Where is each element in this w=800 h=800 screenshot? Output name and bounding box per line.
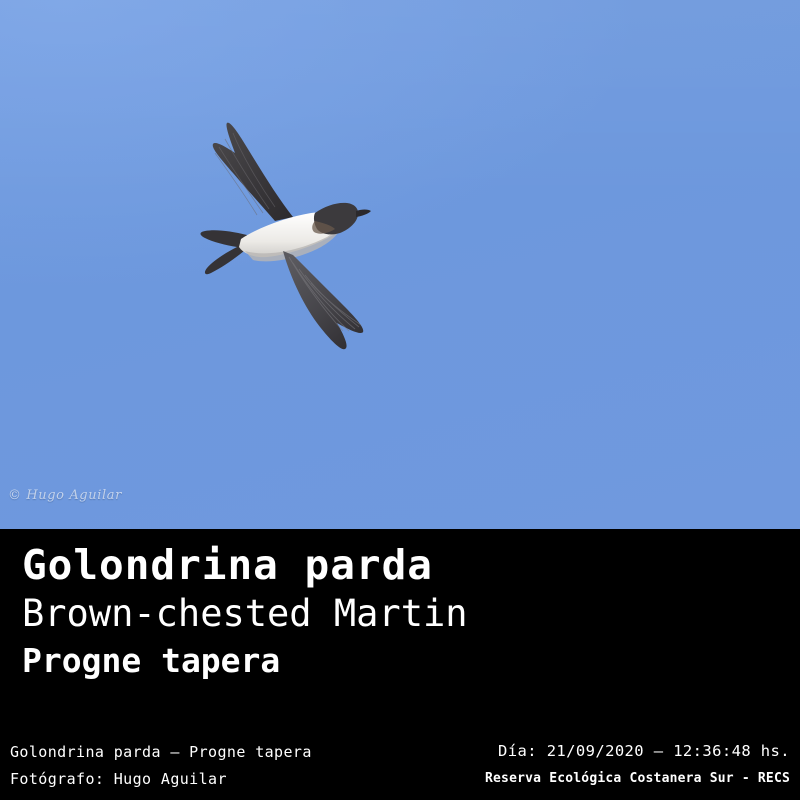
photographer-watermark: © Hugo Aguilar (8, 488, 122, 503)
footer-bar: Golondrina parda — Progne tapera Fotógra… (0, 731, 800, 800)
sky-background (0, 0, 800, 529)
title-block: Golondrina parda Brown-chested Martin Pr… (0, 529, 800, 731)
bird-photo-card: © Hugo Aguilar Golondrina parda Brown-ch… (0, 0, 800, 800)
footer-species-line: Golondrina parda — Progne tapera (10, 743, 312, 761)
species-name-group: Golondrina parda Brown-chested Martin Pr… (22, 535, 468, 677)
bird-in-flight-illustration (175, 105, 380, 365)
footer-date-line: Día: 21/09/2020 — 12:36:48 hs. (498, 742, 790, 760)
scientific-name: Progne tapera (22, 644, 468, 677)
common-name-spanish: Golondrina parda (22, 545, 468, 586)
photograph: © Hugo Aguilar (0, 0, 800, 529)
footer-photographer-line: Fotógrafo: Hugo Aguilar (10, 770, 227, 788)
footer-location-line: Reserva Ecológica Costanera Sur - RECS (485, 771, 790, 786)
common-name-english: Brown-chested Martin (22, 595, 468, 632)
